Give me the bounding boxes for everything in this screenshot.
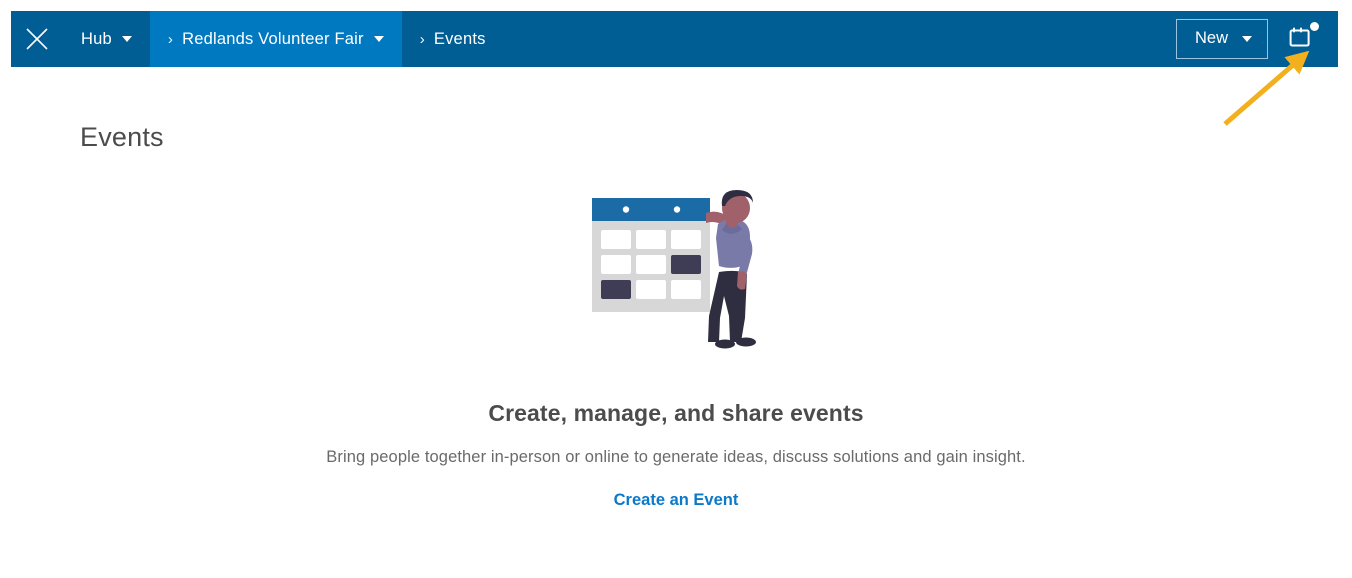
breadcrumb-item-hub[interactable]: Hub <box>63 11 150 67</box>
create-an-event-link[interactable]: Create an Event <box>614 491 739 510</box>
breadcrumb-item-site[interactable]: › Redlands Volunteer Fair <box>150 11 402 67</box>
chevron-right-icon: › <box>168 32 173 47</box>
empty-state-heading: Create, manage, and share events <box>0 400 1352 427</box>
breadcrumb-label-site: Redlands Volunteer Fair <box>182 30 364 49</box>
chevron-down-icon <box>1242 36 1252 42</box>
events-empty-state: Create, manage, and share events Bring p… <box>0 186 1352 510</box>
new-button-label: New <box>1195 29 1228 48</box>
page-title: Events <box>80 122 164 153</box>
breadcrumb-item-events[interactable]: › Events <box>402 11 504 67</box>
chevron-down-icon <box>122 36 132 42</box>
chevron-down-icon <box>374 36 384 42</box>
chevron-right-icon: › <box>420 32 425 47</box>
header-spacer <box>504 11 1176 67</box>
empty-state-subtext: Bring people together in-person or onlin… <box>0 448 1352 467</box>
calendar-with-person-illustration <box>0 186 1352 358</box>
calendar-button[interactable] <box>1284 22 1318 56</box>
top-breadcrumb-bar: Hub › Redlands Volunteer Fair › Events N… <box>11 11 1338 67</box>
breadcrumb-label-events: Events <box>434 30 486 49</box>
close-button[interactable] <box>11 11 63 67</box>
breadcrumb-label-hub: Hub <box>81 30 112 49</box>
close-icon <box>23 25 51 53</box>
notification-dot-icon <box>1310 22 1319 31</box>
new-button[interactable]: New <box>1176 19 1268 59</box>
